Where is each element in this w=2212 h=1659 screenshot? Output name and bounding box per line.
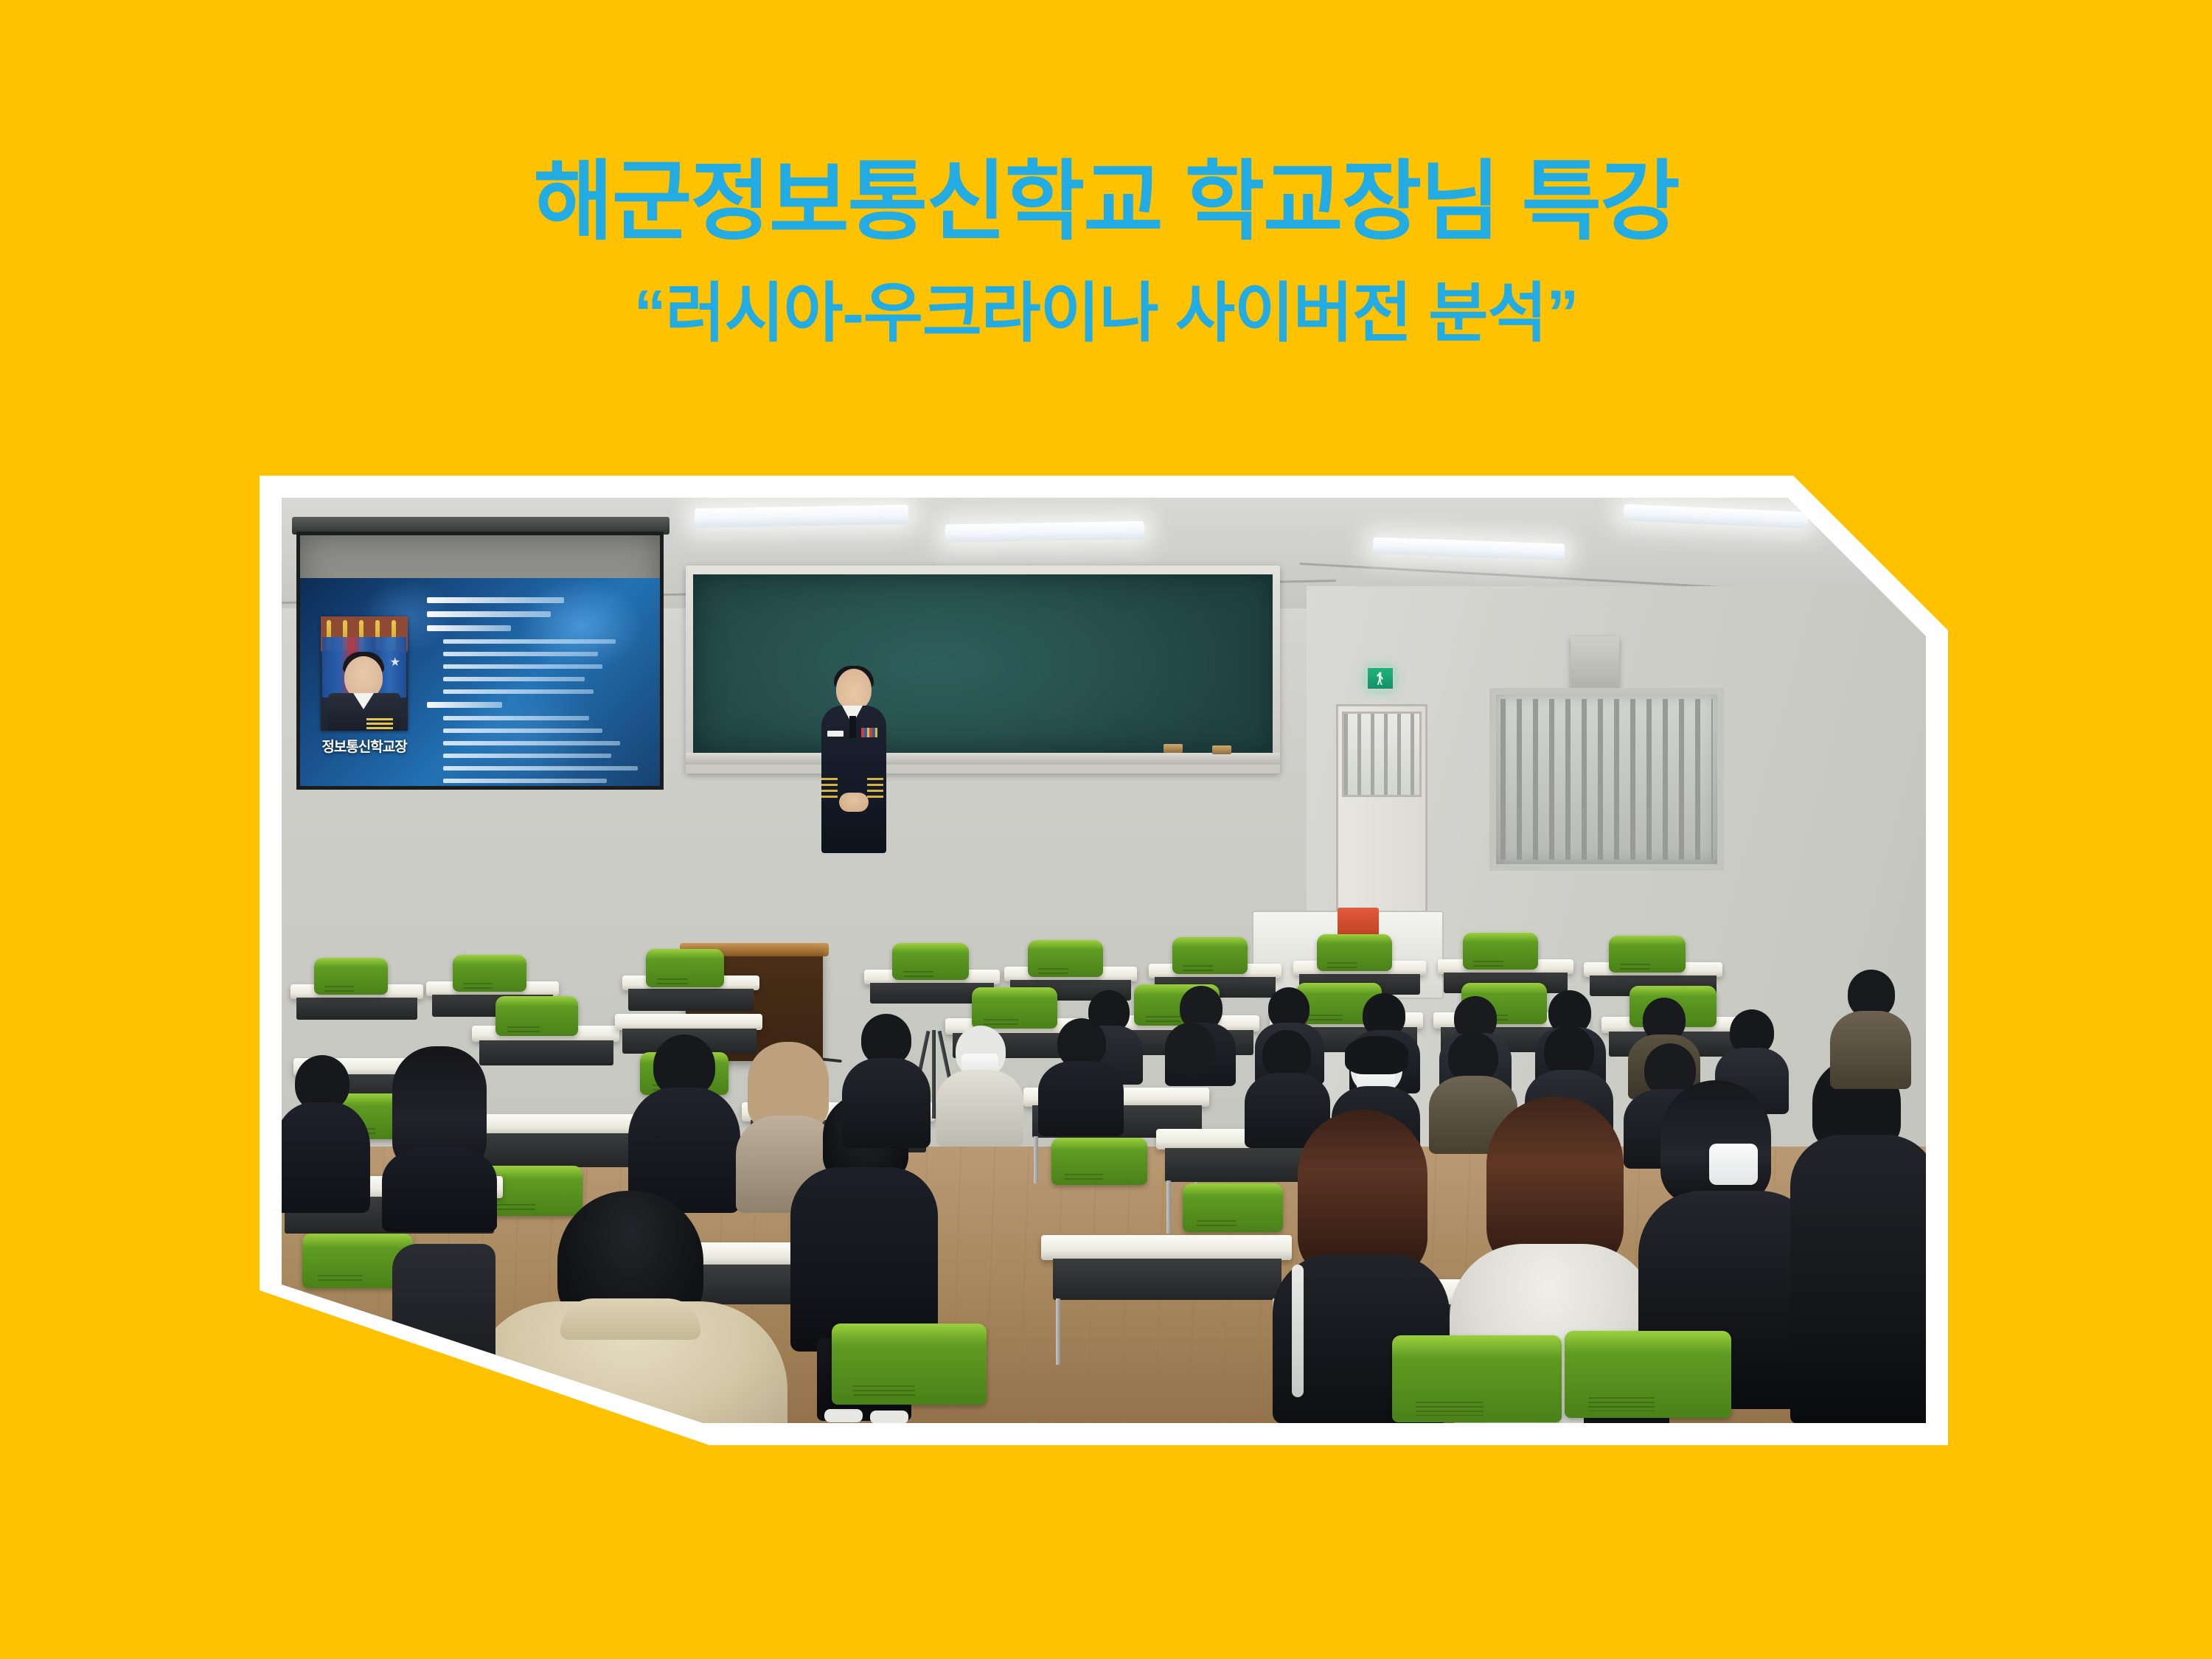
chalk-tray [686, 753, 1280, 765]
classroom-chair [1028, 940, 1103, 977]
classroom-lecture-photo: ★ 정보통신학교장 [282, 498, 1926, 1423]
page-subtitle: “러시아-우크라이나 사이버전 분석” [0, 281, 2212, 346]
lecturer-head [836, 669, 872, 710]
fleece-collar [560, 1298, 700, 1340]
audience-member [282, 1055, 370, 1203]
audience-member [936, 1026, 1023, 1136]
ceiling-light [695, 504, 908, 527]
running-man-icon [1377, 672, 1384, 685]
student-hair [1660, 1080, 1771, 1204]
desk-body [1053, 1259, 1281, 1300]
window-bars [1500, 699, 1713, 860]
poster-title-block: 해군정보통신학교 학교장님 특강 “러시아-우크라이나 사이버전 분석” [0, 0, 2212, 346]
audience-member [628, 1034, 740, 1204]
slide-portrait-photo: ★ [321, 616, 408, 731]
service-ribbons [861, 728, 877, 737]
classroom-chair [314, 958, 388, 995]
classroom-chair [1565, 1331, 1731, 1418]
lecturer [817, 669, 888, 853]
door-window [1342, 712, 1422, 797]
classroom-chair [832, 1324, 987, 1405]
classroom-chair [1317, 934, 1392, 971]
rank-cuff [867, 778, 883, 801]
lecturer-hands [839, 793, 869, 812]
lecturer-necktie [849, 716, 856, 738]
presentation-slide: ★ 정보통신학교장 [300, 578, 660, 790]
student-desk [1041, 1235, 1292, 1260]
classroom-chair [1392, 1335, 1562, 1422]
exit-sign [1366, 666, 1395, 691]
classroom-chair [495, 996, 578, 1036]
classroom-scene: ★ 정보통신학교장 [282, 498, 1926, 1423]
desk-body [628, 989, 754, 1011]
slide-text-block [427, 597, 648, 790]
projection-screen: ★ 정보통신학교장 [296, 532, 664, 790]
audience-member [842, 1014, 931, 1144]
board-eraser [1164, 744, 1183, 753]
classroom-chair [892, 943, 969, 980]
audience-member [1790, 1058, 1926, 1423]
classroom-chair [1051, 1138, 1147, 1185]
slide-caption: 정보통신학교장 [312, 736, 417, 756]
audience-member [1830, 970, 1911, 1080]
classroom-chair [1463, 933, 1538, 970]
board-eraser [1212, 745, 1231, 754]
face-mask [1709, 1144, 1758, 1185]
rank-cuff [821, 778, 838, 801]
name-tag [827, 731, 844, 737]
rank-stripes [366, 718, 393, 731]
foreground-student [470, 1191, 787, 1423]
star-emblem: ★ [390, 655, 400, 669]
classroom-chair [1609, 936, 1686, 973]
door-bars [1344, 714, 1419, 795]
classroom-chair [1172, 937, 1248, 974]
chalkboard [693, 574, 1273, 753]
classroom-chair [1183, 1183, 1283, 1232]
page-title: 해군정보통신학교 학교장님 특강 [0, 159, 2212, 246]
desk-body [296, 998, 417, 1020]
desk-body [479, 1040, 613, 1065]
classroom-chair [453, 955, 526, 992]
interior-window [1489, 688, 1724, 871]
audience-member [1038, 1018, 1124, 1127]
audience-member [1146, 1023, 1233, 1133]
jacket-stripe [1292, 1265, 1304, 1397]
classroom-chair [646, 949, 724, 987]
ceiling-light [945, 521, 1144, 543]
student-desk [615, 1014, 762, 1030]
